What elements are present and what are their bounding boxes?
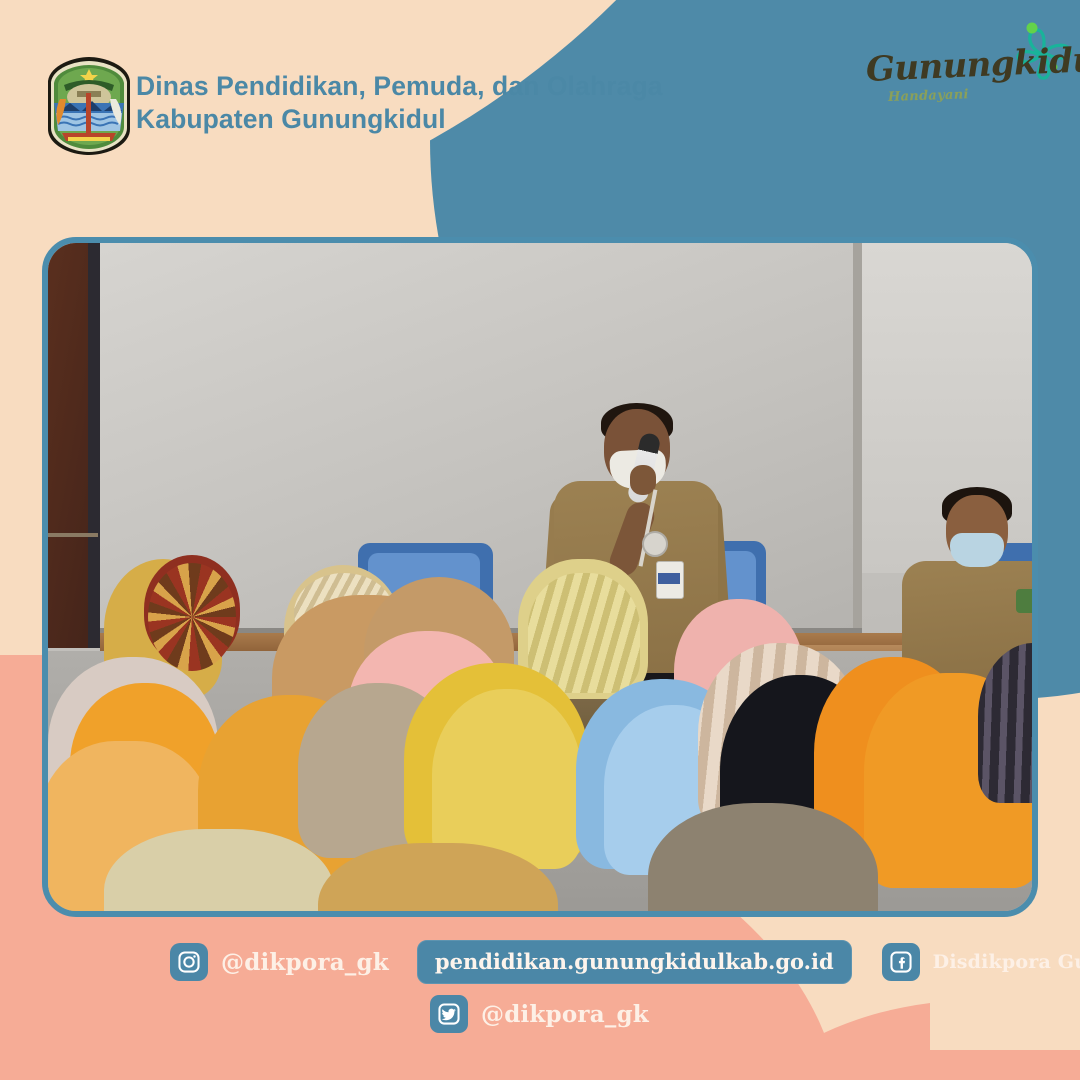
event-photo — [42, 237, 1038, 917]
footer-row-primary: @dikpora_gk pendidikan.gunungkidulkab.go… — [170, 938, 1080, 986]
poster-canvas: Dinas Pendidikan, Pemuda, dan Olahraga K… — [0, 0, 1080, 1080]
twitter-icon[interactable] — [430, 995, 468, 1033]
event-photo-scene — [48, 243, 1032, 911]
facebook-page[interactable]: Disdikpora Gunungkidul — [933, 951, 1080, 973]
gunungkidul-brand-logo: Gunungkidul Handayani — [862, 46, 1078, 120]
poster-footer: @dikpora_gk pendidikan.gunungkidulkab.go… — [0, 938, 1080, 1080]
title-line-2: Kabupaten Gunungkidul — [136, 103, 756, 136]
gunungkidul-coat-of-arms-icon — [42, 55, 136, 157]
instagram-handle[interactable]: @dikpora_gk — [221, 949, 389, 976]
instagram-icon[interactable] — [170, 943, 208, 981]
footer-row-twitter: @dikpora_gk — [430, 990, 649, 1038]
website-url[interactable]: pendidikan.gunungkidulkab.go.id — [417, 940, 852, 984]
brand-tagline: Handayani — [888, 87, 969, 105]
poster-header: Dinas Pendidikan, Pemuda, dan Olahraga K… — [0, 0, 1080, 200]
facebook-icon[interactable] — [882, 943, 920, 981]
title-line-1: Dinas Pendidikan, Pemuda, dan Olahraga — [136, 70, 756, 103]
page-title: Dinas Pendidikan, Pemuda, dan Olahraga K… — [136, 70, 756, 136]
twitter-handle[interactable]: @dikpora_gk — [481, 1001, 649, 1028]
